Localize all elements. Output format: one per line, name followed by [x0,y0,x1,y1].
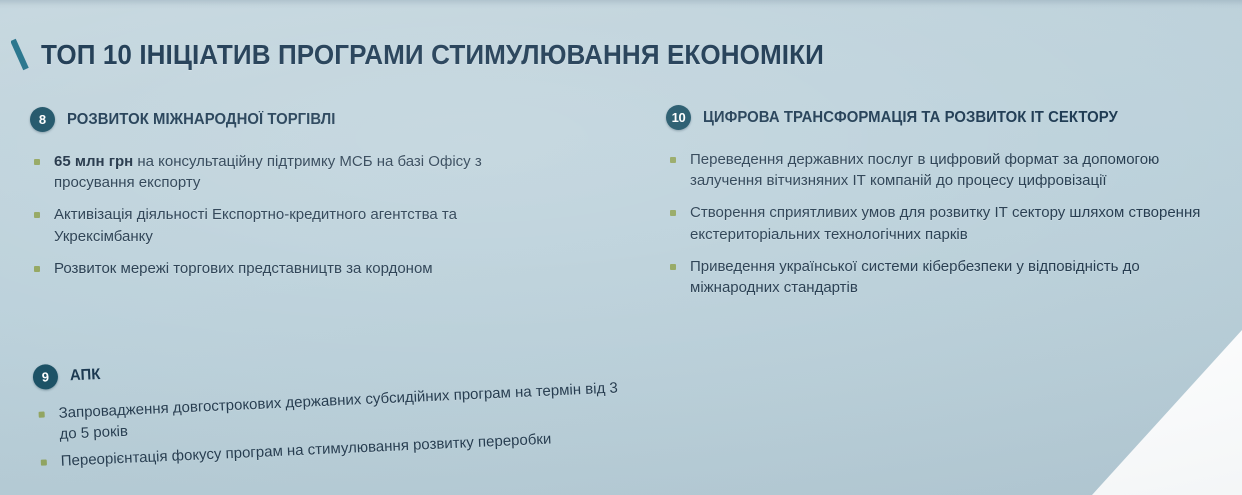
bullet-marker-icon [41,460,47,466]
block-8-header: 8 РОЗВИТОК МІЖНАРОДНОЇ ТОРГІВЛІ [30,98,550,142]
bullet-marker-icon [670,264,676,270]
backslash-accent-icon [11,38,30,71]
initiative-block-9: 9 АПК Запровадження довгострокових держа… [32,329,637,480]
initiative-block-10: 10 ЦИФРОВА ТРАНСФОРМАЦІЯ ТА РОЗВИТОК ІТ … [666,96,1226,299]
bullet-marker-icon [670,157,676,163]
slide-canvas: ТОП 10 ІНІЦІАТИВ ПРОГРАМИ СТИМУЛЮВАННЯ Е… [0,0,1242,495]
corner-wedge-decoration [1092,330,1242,495]
badge-number-9: 9 [32,364,58,390]
bullet-marker-icon [39,411,45,417]
bullet-marker-icon [34,212,40,218]
page-title: ТОП 10 ІНІЦІАТИВ ПРОГРАМИ СТИМУЛЮВАННЯ Е… [41,39,824,71]
block-8-title: РОЗВИТОК МІЖНАРОДНОЇ ТОРГІВЛІ [67,111,335,129]
block-9-title: АПК [70,366,101,385]
list-item: Активізація діяльності Експортно-кредитн… [30,204,550,247]
bullet-text: Приведення української системи кібербезп… [690,258,1140,296]
list-item: Створення сприятливих умов для розвитку … [666,202,1226,245]
bullet-text: Переведення державних послуг в цифровий … [690,151,1159,189]
bullet-marker-icon [34,266,40,272]
list-item: Приведення української системи кібербезп… [666,256,1226,299]
bullet-text: Активізація діяльності Експортно-кредитн… [54,206,457,244]
block-8-bullet-list: 65 млн грн на консультаційну підтримку М… [30,151,550,279]
bullet-highlight: 65 млн грн [54,153,133,170]
bullet-text: Розвиток мережі торгових представництв з… [54,260,433,277]
bullet-marker-icon [670,210,676,216]
slide-title-row: ТОП 10 ІНІЦІАТИВ ПРОГРАМИ СТИМУЛЮВАННЯ Е… [11,20,883,90]
list-item: Розвиток мережі торгових представництв з… [30,258,550,279]
list-item: 65 млн грн на консультаційну підтримку М… [30,151,550,194]
block-10-title: ЦИФРОВА ТРАНСФОРМАЦІЯ ТА РОЗВИТОК ІТ СЕК… [703,109,1118,127]
list-item: Переведення державних послуг в цифровий … [666,149,1226,192]
top-edge-band [0,0,1242,9]
bullet-text: Створення сприятливих умов для розвитку … [690,204,1200,242]
bullet-marker-icon [34,159,40,165]
block-10-header: 10 ЦИФРОВА ТРАНСФОРМАЦІЯ ТА РОЗВИТОК ІТ … [666,96,1226,140]
badge-number-8: 8 [30,107,55,132]
badge-number-10: 10 [666,105,691,130]
block-10-bullet-list: Переведення державних послуг в цифровий … [666,149,1226,299]
initiative-block-8: 8 РОЗВИТОК МІЖНАРОДНОЇ ТОРГІВЛІ 65 млн г… [30,98,550,279]
